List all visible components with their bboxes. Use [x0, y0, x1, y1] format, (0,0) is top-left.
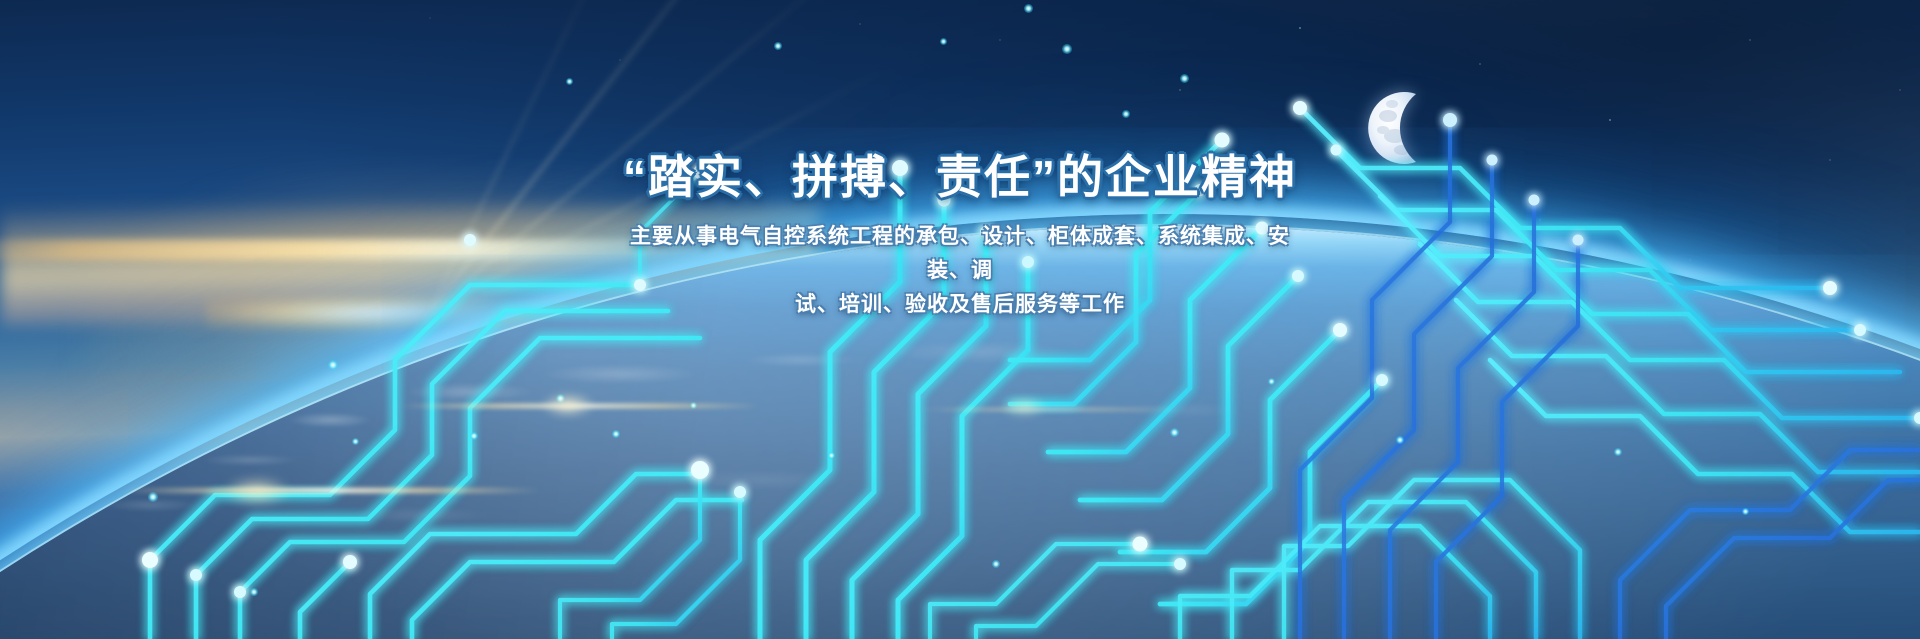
subtitle-line-1: 主要从事电气自控系统工程的承包、设计、柜体成套、系统集成、安装、调 — [630, 220, 1290, 288]
hero-banner: “踏实、拼搏、责任”的企业精神 主要从事电气自控系统工程的承包、设计、柜体成套、… — [0, 0, 1920, 639]
page-title: “踏实、拼搏、责任”的企业精神 — [0, 152, 1920, 204]
subtitle-line-2: 试、培训、验收及售后服务等工作 — [630, 288, 1290, 322]
banner-copy: “踏实、拼搏、责任”的企业精神 主要从事电气自控系统工程的承包、设计、柜体成套、… — [0, 152, 1920, 322]
banner-subtitle: 主要从事电气自控系统工程的承包、设计、柜体成套、系统集成、安装、调 试、培训、验… — [0, 220, 1920, 322]
